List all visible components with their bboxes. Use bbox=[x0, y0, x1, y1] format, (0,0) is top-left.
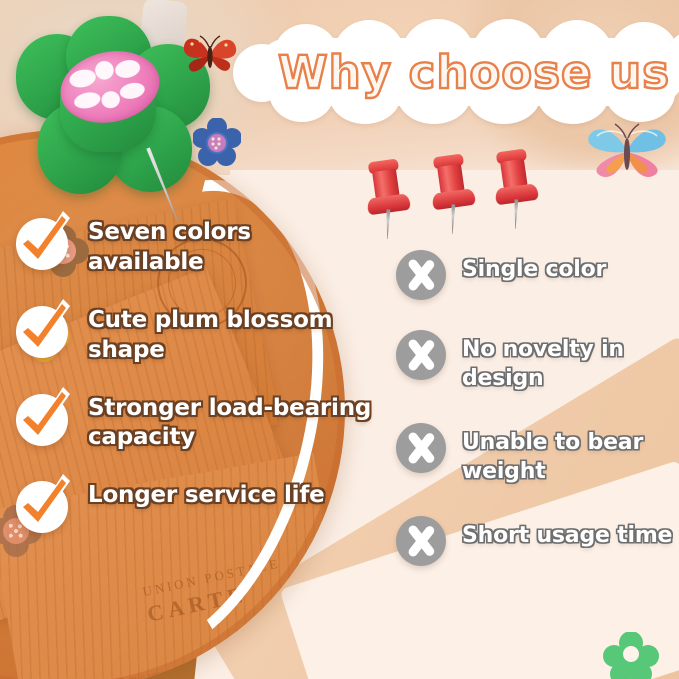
cons-list-item: Unable to bear weight bbox=[396, 421, 676, 486]
green-flower-shape bbox=[603, 632, 659, 679]
cons-item-label: No novelty in design bbox=[462, 328, 676, 393]
cons-list: Single color No novelty in design bbox=[396, 248, 676, 594]
pros-list: Seven colors available Cute plum blossom… bbox=[14, 212, 374, 555]
cons-list-item: No novelty in design bbox=[396, 328, 676, 393]
pros-list-item: Cute plum blossom shape bbox=[14, 300, 374, 366]
pros-item-label: Seven colors available bbox=[88, 212, 374, 278]
pros-item-label: Cute plum blossom shape bbox=[88, 300, 374, 366]
red-butterfly-decoration bbox=[182, 30, 238, 82]
x-icon bbox=[396, 514, 448, 566]
cons-item-label: Unable to bear weight bbox=[462, 421, 676, 486]
pushpin-needle bbox=[385, 209, 390, 239]
pros-list-item: Stronger load-bearing capacity bbox=[14, 388, 374, 454]
colorful-butterfly-decoration bbox=[583, 118, 671, 184]
blue-flower-push-pin bbox=[193, 118, 241, 166]
pushpin-needle bbox=[450, 204, 455, 234]
check-icon bbox=[14, 388, 72, 446]
check-icon bbox=[14, 212, 72, 270]
pros-item-label: Stronger load-bearing capacity bbox=[88, 388, 374, 454]
x-icon bbox=[396, 328, 448, 380]
promo-graphic: UNION POSTALE CARTE Partie reservee a la… bbox=[0, 0, 679, 679]
cons-item-label: Single color bbox=[462, 248, 606, 285]
cons-list-item: Single color bbox=[396, 248, 676, 300]
check-icon bbox=[14, 300, 72, 358]
pushpin-needle bbox=[513, 199, 518, 229]
pros-list-item: Longer service life bbox=[14, 475, 374, 533]
cons-list-item: Short usage time bbox=[396, 514, 676, 566]
page-title: Why choose us bbox=[233, 22, 679, 122]
pros-item-label: Longer service life bbox=[88, 475, 325, 511]
x-icon bbox=[396, 248, 448, 300]
x-icon bbox=[396, 421, 448, 473]
check-icon bbox=[14, 475, 72, 533]
pros-list-item: Seven colors available bbox=[14, 212, 374, 278]
cons-item-label: Short usage time bbox=[462, 514, 672, 551]
title-banner: Why choose us bbox=[233, 22, 679, 122]
